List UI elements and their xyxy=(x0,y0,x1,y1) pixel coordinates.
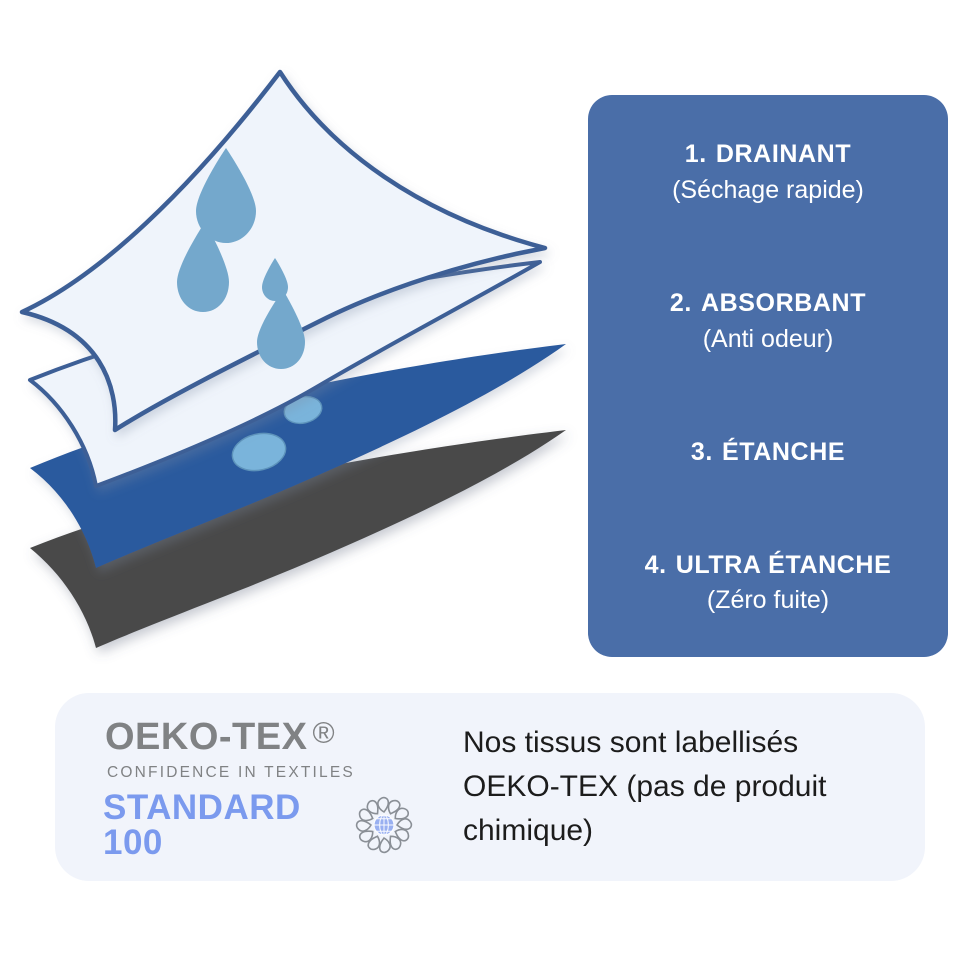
feature-number: 2. xyxy=(670,288,692,319)
feature-item-ultra-etanche: 4.ULTRA ÉTANCHE (Zéro fuite) xyxy=(602,550,934,617)
feature-number: 1. xyxy=(685,139,707,170)
features-panel: 1.DRAINANT (Séchage rapide) 2.ABSORBANT … xyxy=(588,95,948,657)
feature-subtitle: (Séchage rapide) xyxy=(602,174,934,207)
feature-item-drainant: 1.DRAINANT (Séchage rapide) xyxy=(602,139,934,206)
oekotex-standard-row: STANDARD 100 xyxy=(103,790,415,860)
oekotex-flower-globe-emblem xyxy=(353,794,415,856)
feature-subtitle: (Anti odeur) xyxy=(602,323,934,356)
oekotex-standard-label: STANDARD 100 xyxy=(103,790,341,860)
feature-subtitle: (Zéro fuite) xyxy=(602,584,934,617)
feature-number: 3. xyxy=(691,437,713,468)
feature-number: 4. xyxy=(645,550,667,581)
registered-trademark-icon: ® xyxy=(312,719,335,749)
feature-label: ÉTANCHE xyxy=(722,438,845,466)
feature-label: ABSORBANT xyxy=(701,289,866,317)
oekotex-logo: OEKO-TEX ® CONFIDENCE IN TEXTILES STANDA… xyxy=(105,714,415,860)
feature-item-absorbant: 2.ABSORBANT (Anti odeur) xyxy=(602,288,934,355)
infographic-page: 1.DRAINANT (Séchage rapide) 2.ABSORBANT … xyxy=(0,0,968,966)
feature-title: 3.ÉTANCHE xyxy=(602,437,934,468)
feature-title: 2.ABSORBANT xyxy=(602,288,934,319)
fabric-layers-illustration xyxy=(0,0,580,680)
oekotex-certification-card: OEKO-TEX ® CONFIDENCE IN TEXTILES STANDA… xyxy=(55,693,925,881)
feature-label: DRAINANT xyxy=(716,140,851,168)
feature-title: 1.DRAINANT xyxy=(602,139,934,170)
oekotex-wordmark-text: OEKO-TEX xyxy=(105,718,307,756)
feature-title: 4.ULTRA ÉTANCHE xyxy=(602,550,934,581)
globe-icon xyxy=(374,815,394,835)
oekotex-description: Nos tissus sont labellisés OEKO-TEX (pas… xyxy=(415,721,899,853)
feature-item-etanche: 3.ÉTANCHE xyxy=(602,437,934,468)
feature-label: ULTRA ÉTANCHE xyxy=(676,551,892,579)
oekotex-tagline: CONFIDENCE IN TEXTILES xyxy=(107,765,355,781)
oekotex-wordmark: OEKO-TEX ® xyxy=(105,718,335,756)
